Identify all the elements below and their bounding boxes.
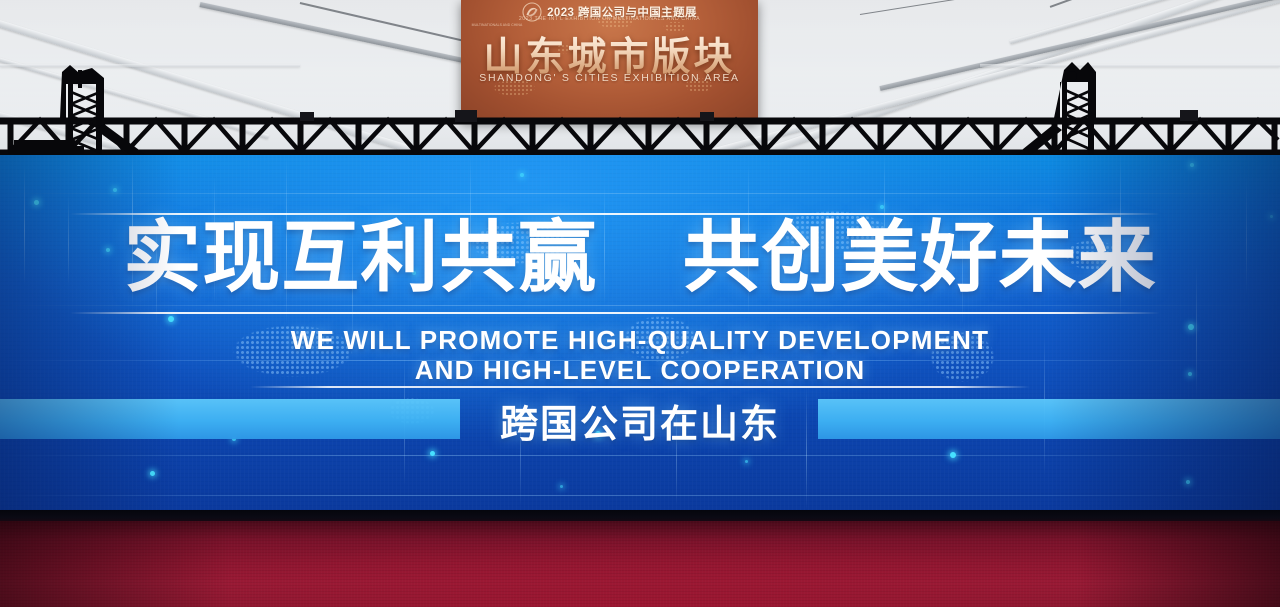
led-screen: 实现互利共赢 共创美好未来 WE WILL PROMOTE HIGH-QUALI… [0, 155, 1280, 510]
headline-cn-left: 实现互利共赢 [123, 213, 597, 301]
stage-truss [0, 0, 1280, 162]
stage-scene: 2023 跨国公司与中国主题展 MULTINATIONALS AND CHINA… [0, 0, 1280, 607]
subtitle-en-line2: AND HIGH-LEVEL COOPERATION [0, 355, 1280, 386]
headline-cn-right: 共创美好未来 [683, 213, 1157, 301]
carpet-vignette [0, 521, 1280, 607]
headline-cn: 实现互利共赢 共创美好未来 [0, 218, 1280, 296]
headline-rule-bottom [70, 312, 1160, 314]
subtitle-rule [250, 386, 1030, 388]
footer-cn: 跨国公司在山东 [0, 393, 1280, 448]
red-carpet [0, 521, 1280, 607]
subtitle-en-line1: WE WILL PROMOTE HIGH-QUALITY DEVELOPMENT [0, 325, 1280, 356]
